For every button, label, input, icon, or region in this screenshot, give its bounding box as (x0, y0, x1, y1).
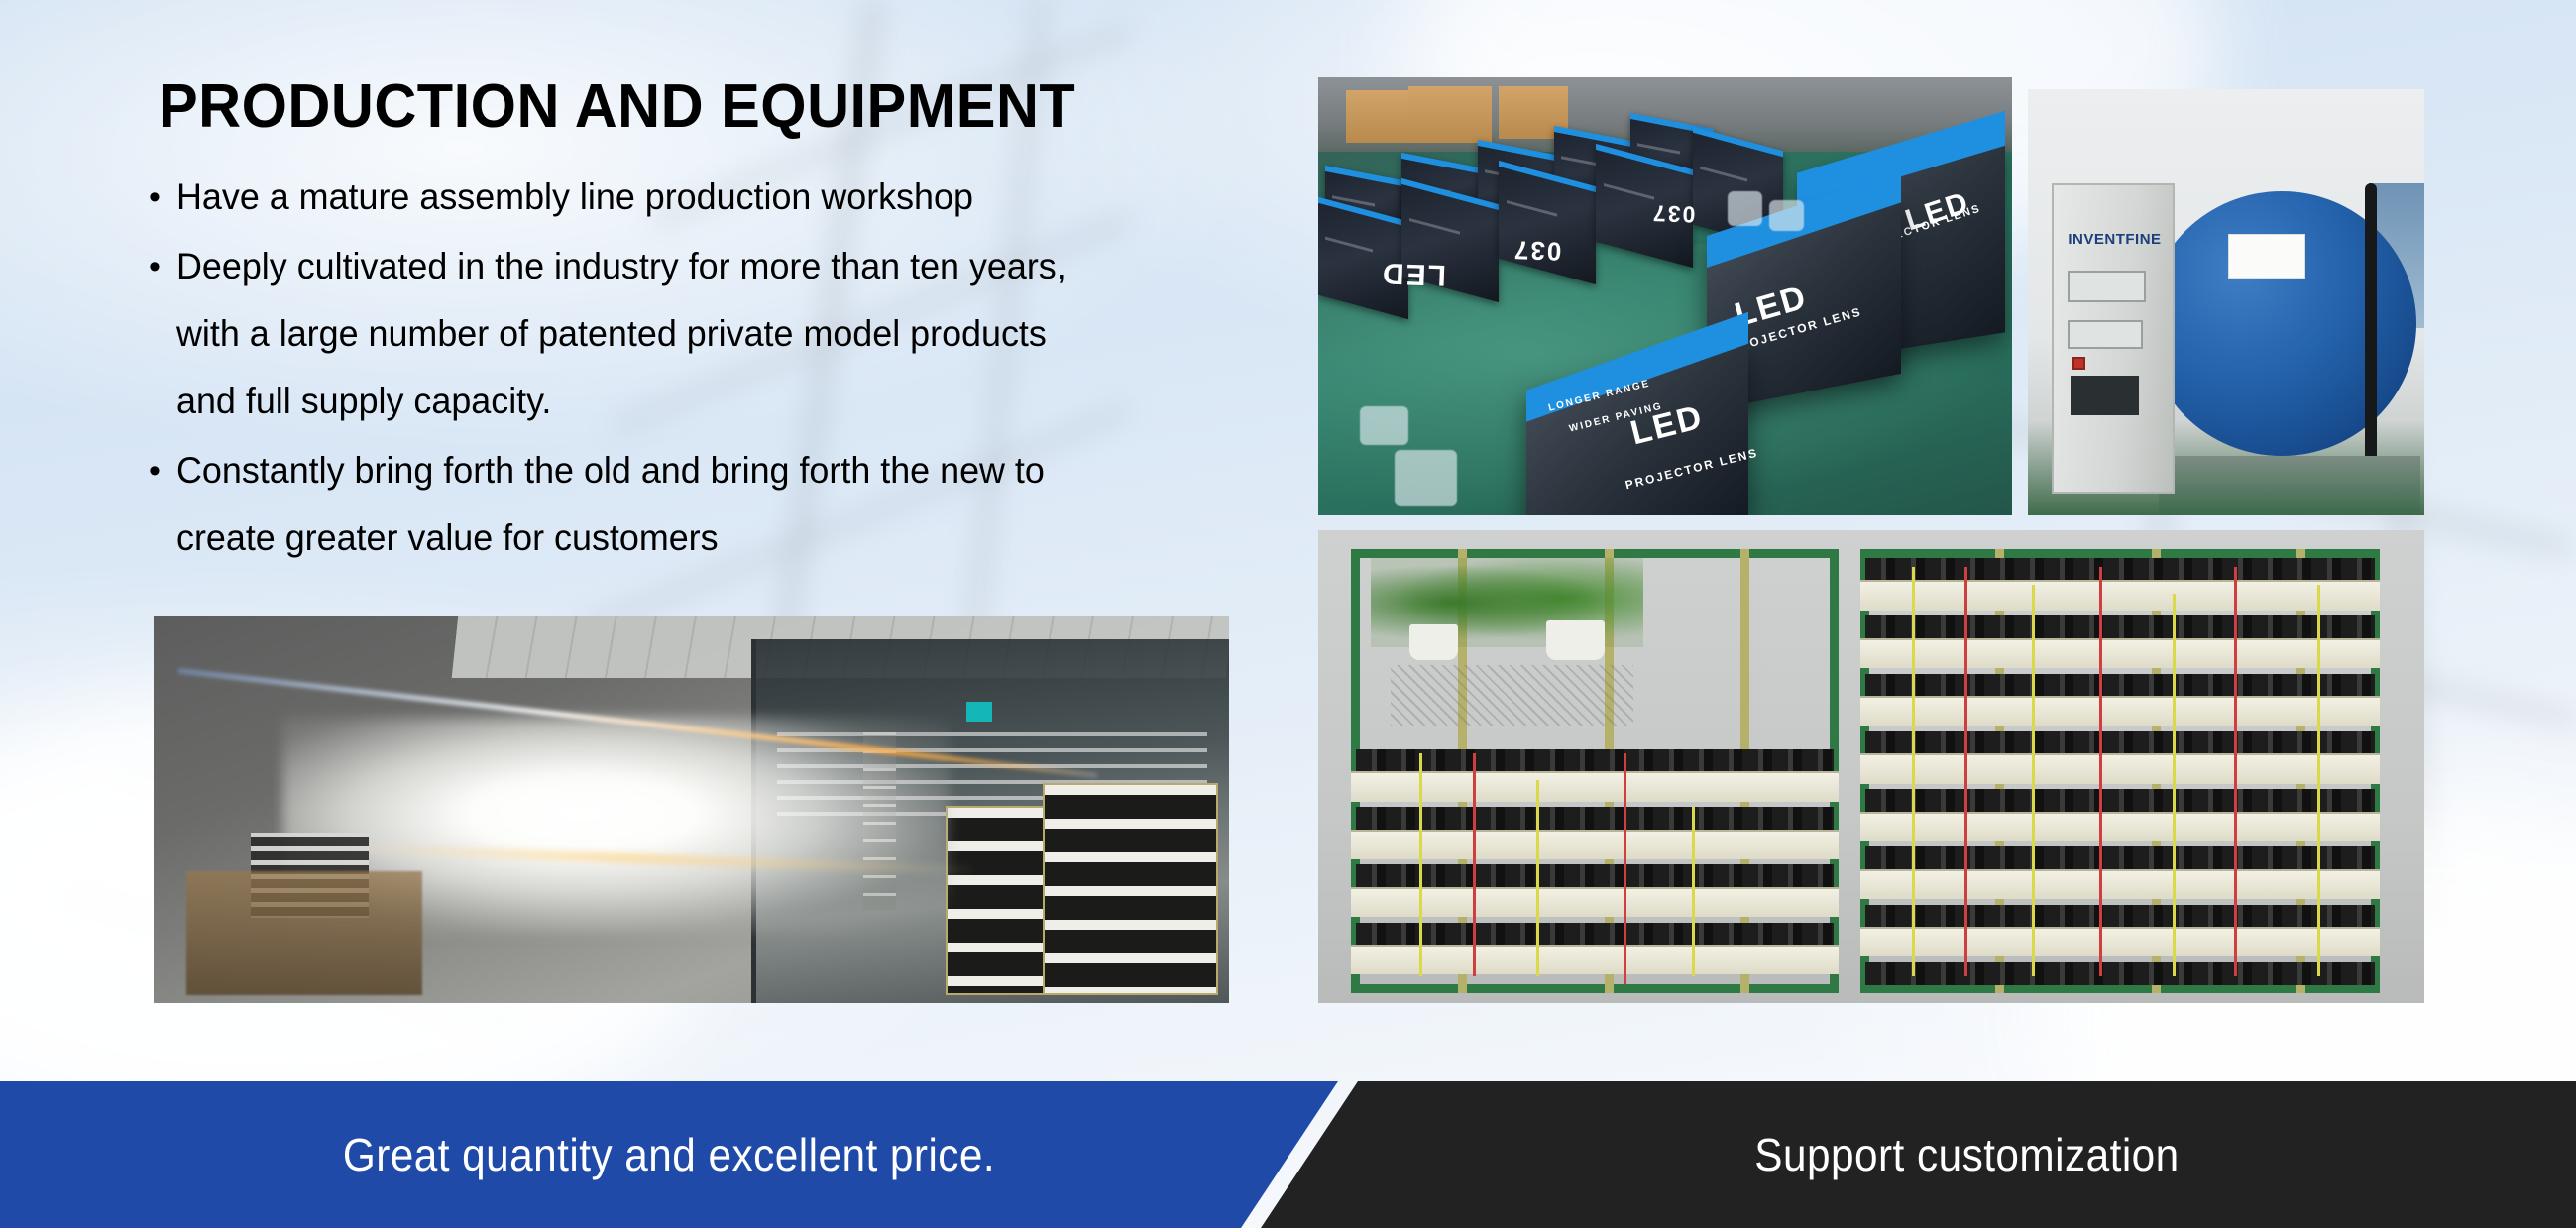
foam-shelf (1860, 696, 2381, 726)
bullet-text: Have a mature assembly line production w… (176, 164, 973, 231)
plant-pot (1546, 620, 1605, 660)
led-wordmark: 037 (1512, 234, 1561, 267)
lamp-row (1865, 789, 2375, 812)
page-title: PRODUCTION AND EQUIPMENT (159, 71, 1075, 142)
foam-shelf (1860, 927, 2381, 956)
mesh-panel (1391, 665, 1634, 727)
beam-room-scene (154, 616, 1229, 1003)
bullet-text: and full supply capacity. (176, 368, 1066, 435)
list-item: • Have a mature assembly line production… (149, 164, 1249, 231)
led-boxes-scene: LED 037 037 LED PROJECTOR LENS LED PROJE… (1318, 77, 2012, 515)
foam-shelf (1860, 753, 2381, 783)
bullet-text: Deeply cultivated in the industry for mo… (176, 233, 1066, 300)
bullet-text: with a large number of patented private … (176, 300, 1066, 368)
cardboard-boxes (186, 871, 423, 995)
banner-left-text: Great quantity and excellent price. (54, 1081, 1285, 1228)
carton (1408, 86, 1492, 143)
lamp-row (1865, 846, 2375, 869)
aging-racks-scene (1318, 530, 2424, 1003)
lamp-row (1865, 615, 2375, 638)
cabinet-red-button[interactable] (2072, 357, 2084, 370)
sphere-paper-label (2228, 234, 2305, 279)
bullet-list: • Have a mature assembly line production… (149, 164, 1249, 574)
lamp-row (1865, 905, 2375, 928)
sphere-lab-scene: INVENTFINE (2028, 89, 2424, 515)
floor-strip (2159, 456, 2420, 515)
foam-shelf (1860, 869, 2381, 899)
teal-sticker (966, 702, 992, 722)
foam-shelf (1351, 830, 1838, 859)
lamp-row (1865, 558, 2375, 581)
bullet-text-block: Constantly bring forth the old and bring… (176, 437, 1071, 572)
sphere-clamp-arm (2365, 183, 2377, 465)
bullet-text: create greater value for customers (176, 504, 1045, 572)
rack-unit (1860, 549, 2381, 993)
photo-integrating-sphere: INVENTFINE (2028, 89, 2424, 515)
parts-bag (1360, 406, 1408, 446)
lamp-row (1356, 923, 1833, 946)
lamp-row (1356, 864, 1833, 887)
lamp-row (1865, 731, 2375, 754)
lamp-row (1356, 807, 1833, 830)
list-item: • Constantly bring forth the old and bri… (149, 437, 1249, 572)
bullet-marker-icon: • (149, 164, 176, 231)
led-wordmark: LED (1380, 256, 1446, 291)
test-cabinet: INVENTFINE (2052, 183, 2175, 495)
slide-root: PRODUCTION AND EQUIPMENT • Have a mature… (0, 0, 2576, 1228)
rack-unit (1351, 549, 1838, 993)
photo-led-boxes: LED 037 037 LED PROJECTOR LENS LED PROJE… (1318, 77, 2012, 515)
foam-shelf (1860, 812, 2381, 841)
cabinet-controller-screen (2071, 376, 2140, 415)
lamp-row (1356, 749, 1833, 772)
storage-rack (1043, 783, 1219, 996)
foam-shelf (1351, 887, 1838, 917)
led-wordmark: 037 (1651, 199, 1696, 228)
bullet-text: Constantly bring forth the old and bring… (176, 437, 1045, 504)
foam-shelf (1351, 945, 1838, 974)
photo-beam-test-room (154, 616, 1229, 1003)
parts-bag (1769, 200, 1804, 231)
lamp-row (1865, 962, 2375, 985)
bottom-banner: Great quantity and excellent price. Supp… (0, 1081, 2576, 1228)
photo-aging-racks (1318, 530, 2424, 1003)
plant-pot (1409, 624, 1458, 660)
bullet-text-block: Deeply cultivated in the industry for mo… (176, 233, 1093, 435)
parts-bag (1728, 191, 1762, 226)
list-item: • Deeply cultivated in the industry for … (149, 233, 1249, 435)
bullet-marker-icon: • (149, 233, 176, 300)
foam-shelf (1351, 771, 1838, 801)
bullet-marker-icon: • (149, 437, 176, 504)
foam-shelf (1860, 580, 2381, 610)
cabinet-meter (2068, 320, 2143, 349)
carton (1346, 90, 1408, 143)
banner-right-text: Support customization (1406, 1081, 2527, 1228)
lamp-row (1865, 674, 2375, 697)
foam-shelf (1860, 638, 2381, 668)
parts-bag (1395, 450, 1457, 506)
cabinet-display (2068, 271, 2145, 302)
cabinet-brand-label: INVENTFINE (2068, 231, 2161, 248)
